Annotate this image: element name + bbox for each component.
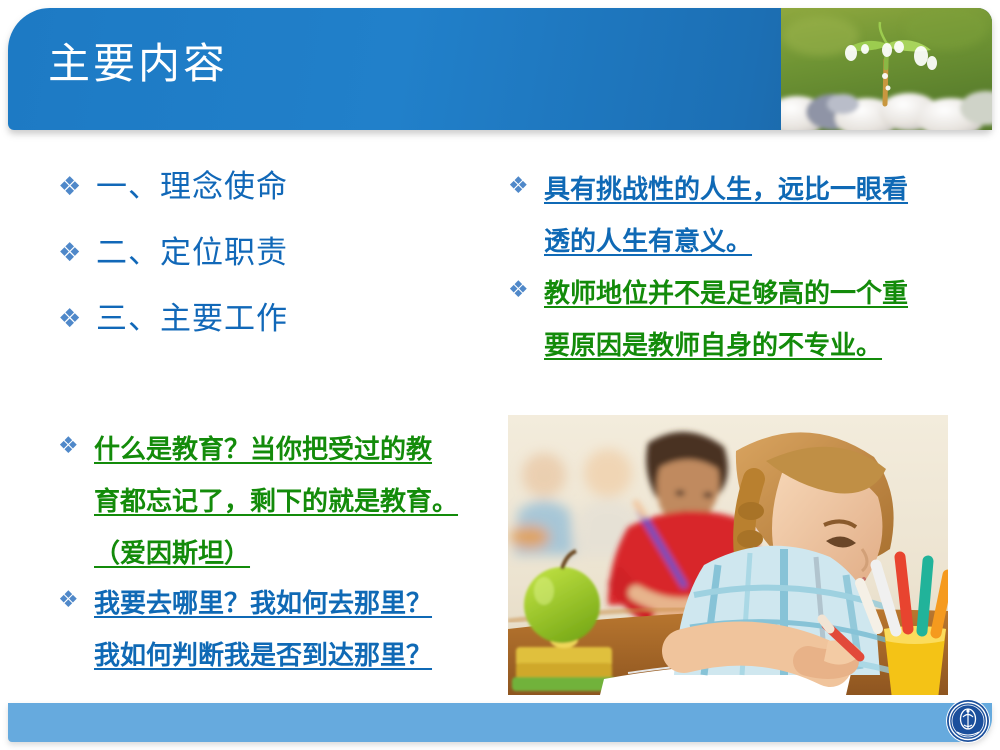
diamond-bullet-icon: ❖ bbox=[58, 578, 94, 611]
footer-bar bbox=[8, 703, 992, 742]
presentation-slide: 主要内容 bbox=[0, 0, 1000, 750]
diamond-bullet-icon: ❖ bbox=[58, 424, 94, 457]
quote-line: 透的人生有意义。 bbox=[544, 227, 752, 256]
quote-line: 什么是教育？当你把受过的教 bbox=[94, 435, 432, 464]
quote-line: （爱因斯坦） bbox=[94, 539, 250, 568]
diamond-bullet-icon: ❖ bbox=[58, 297, 96, 331]
quote-item: ❖ 具有挑战性的人生，远比一眼看 透的人生有意义。 bbox=[508, 164, 908, 268]
classroom-photo bbox=[508, 415, 948, 695]
quote-item: ❖ 我要去哪里？我如何去那里？ 我如何判断我是否到达那里？ bbox=[58, 578, 432, 682]
header-seedling-photo bbox=[781, 8, 992, 130]
school-emblem-logo bbox=[944, 697, 992, 745]
quote-line: 育都忘记了，剩下的就是教育。 bbox=[94, 487, 458, 516]
diamond-bullet-icon: ❖ bbox=[58, 231, 96, 265]
nav-item-label: 一、理念使命 bbox=[96, 165, 288, 209]
page-title: 主要内容 bbox=[48, 40, 228, 88]
seedling-illustration bbox=[781, 8, 992, 130]
nav-item-label: 二、定位职责 bbox=[96, 231, 288, 275]
nav-item-label: 三、主要工作 bbox=[96, 297, 288, 341]
diamond-bullet-icon: ❖ bbox=[58, 165, 96, 199]
diamond-bullet-icon: ❖ bbox=[508, 268, 544, 301]
quote-line: 要原因是教师自身的不专业。 bbox=[544, 331, 882, 360]
quote-line: 教师地位并不是足够高的一个重 bbox=[544, 279, 908, 308]
diamond-bullet-icon: ❖ bbox=[508, 164, 544, 197]
quote-line: 我要去哪里？我如何去那里？ bbox=[94, 589, 432, 618]
quote-item: ❖ 什么是教育？当你把受过的教 育都忘记了，剩下的就是教育。 （爱因斯坦） bbox=[58, 424, 458, 580]
classroom-illustration bbox=[508, 415, 948, 695]
quote-item: ❖ 教师地位并不是足够高的一个重 要原因是教师自身的不专业。 bbox=[508, 268, 908, 372]
quote-line: 具有挑战性的人生，远比一眼看 bbox=[544, 175, 908, 204]
quote-line: 我如何判断我是否到达那里？ bbox=[94, 641, 432, 670]
emblem-icon bbox=[944, 697, 992, 745]
nav-item[interactable]: ❖ 一、理念使命 bbox=[58, 165, 288, 209]
nav-item[interactable]: ❖ 三、主要工作 bbox=[58, 297, 288, 341]
nav-item[interactable]: ❖ 二、定位职责 bbox=[58, 231, 288, 275]
